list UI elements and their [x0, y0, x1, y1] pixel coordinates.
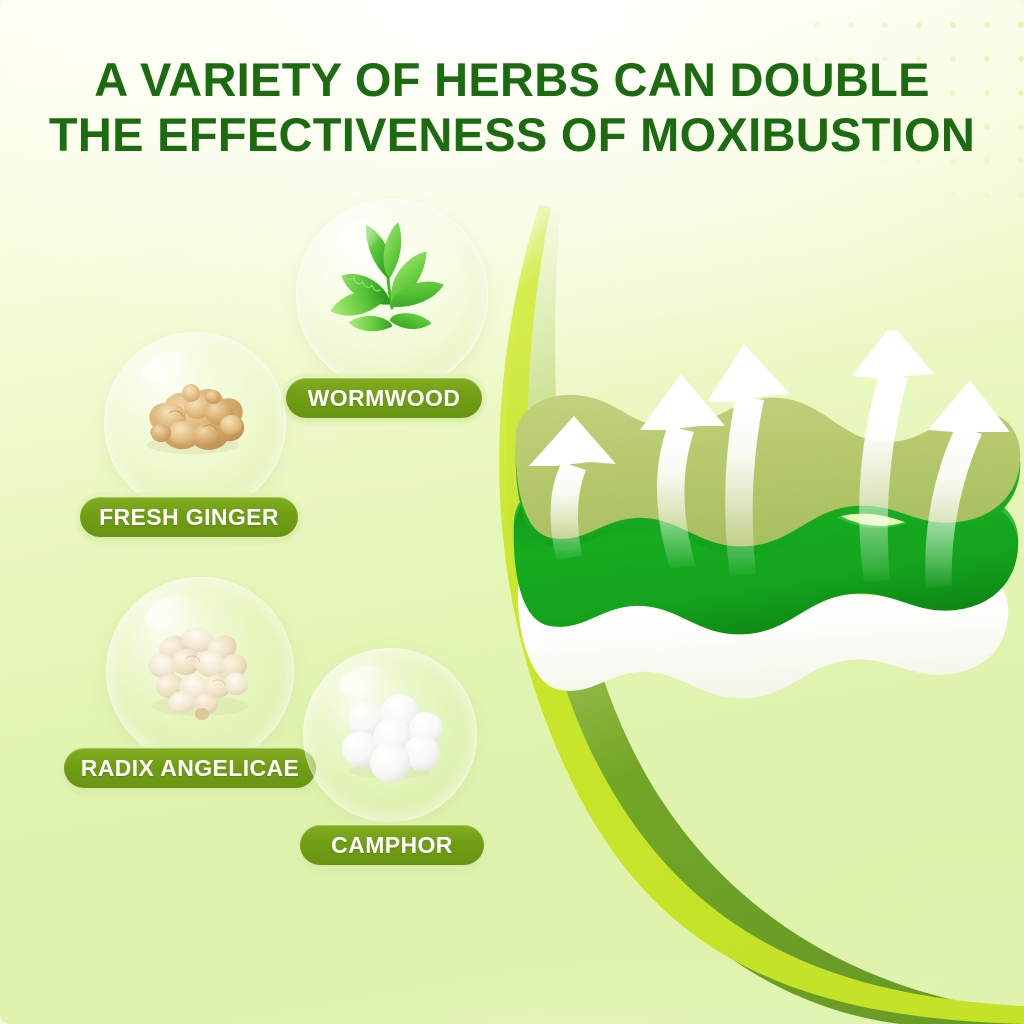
moxibustion-patch-diagram: [498, 330, 1024, 750]
wormwood-leaf-icon: [297, 200, 487, 390]
ingredient-bubble-wormwood[interactable]: [296, 199, 488, 391]
ingredient-pill-radix-angelicae[interactable]: RADIX ANGELICAE: [64, 748, 316, 788]
ginger-root-icon: [105, 333, 285, 513]
ingredient-bubble-radix-angelicae[interactable]: [106, 577, 294, 765]
infographic-canvas: A VARIETY OF HERBS CAN DOUBLE THE EFFECT…: [0, 0, 1024, 1024]
camphor-balls-icon: [304, 649, 476, 821]
ingredient-pill-wormwood[interactable]: WORMWOOD: [286, 378, 482, 418]
title-line-1: A VARIETY OF HERBS CAN DOUBLE: [94, 53, 930, 106]
ingredient-bubble-camphor[interactable]: [303, 648, 477, 822]
angelica-root-slices-icon: [107, 578, 293, 764]
ingredient-pill-fresh-ginger[interactable]: FRESH GINGER: [80, 497, 298, 537]
ingredient-label: WORMWOOD: [308, 385, 461, 412]
ingredient-pill-camphor[interactable]: CAMPHOR: [300, 825, 484, 865]
page-title: A VARIETY OF HERBS CAN DOUBLE THE EFFECT…: [0, 52, 1024, 163]
ingredient-bubble-fresh-ginger[interactable]: [104, 332, 286, 514]
ingredient-label: RADIX ANGELICAE: [81, 755, 300, 782]
title-line-2: THE EFFECTIVENESS OF MOXIBUSTION: [14, 107, 1010, 162]
ingredient-label: CAMPHOR: [331, 832, 453, 859]
ingredient-label: FRESH GINGER: [99, 504, 279, 531]
